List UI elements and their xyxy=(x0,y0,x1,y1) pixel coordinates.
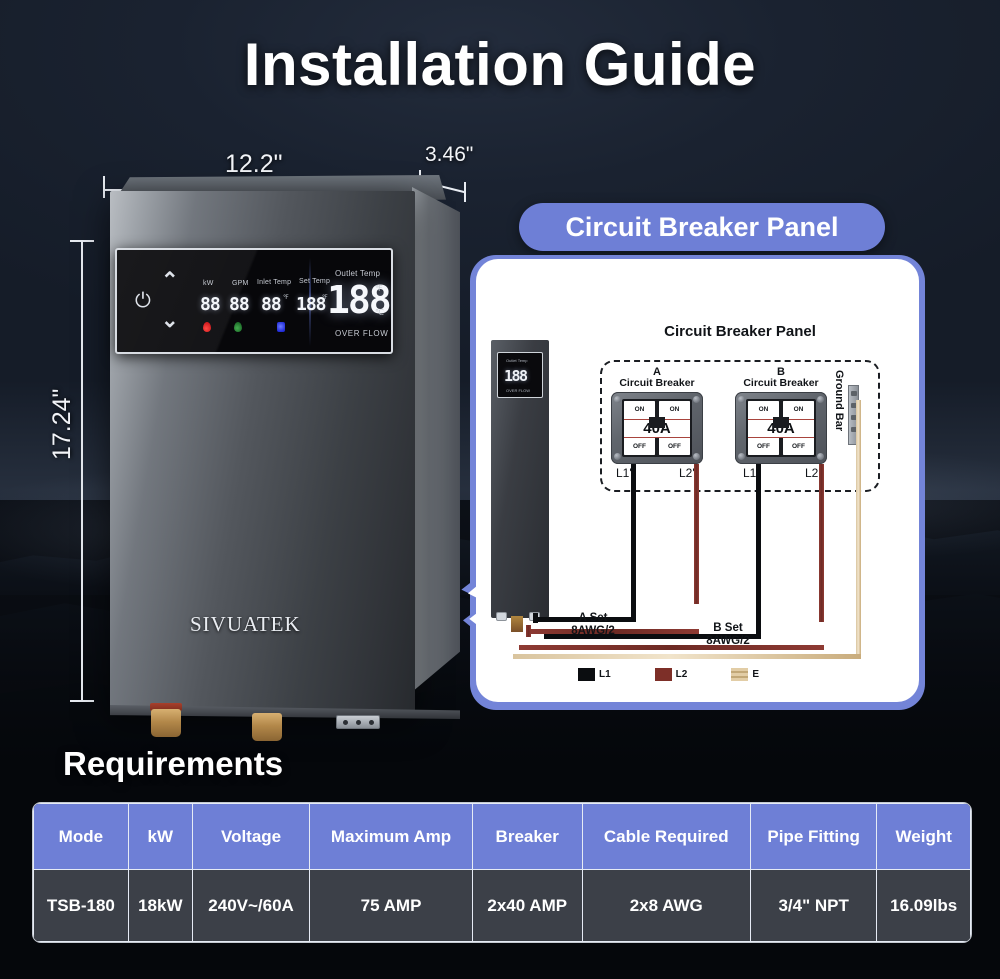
chevron-up-icon[interactable]: ⌃ xyxy=(161,268,179,293)
mini-over-flow-label: OVER FLOW xyxy=(506,388,530,393)
cable-set-a-label: A Set 8AWG/2 xyxy=(553,612,633,638)
breaker-a-tie-bar xyxy=(649,417,665,428)
cable-set-b-spec: 8AWG/2 xyxy=(706,635,749,647)
table-header-row: Mode kW Voltage Maximum Amp Breaker Cabl… xyxy=(34,804,971,870)
gpm-readout: 88 xyxy=(229,294,249,315)
column-header-kw: kW xyxy=(128,804,192,870)
dimension-depth-label: 3.46" xyxy=(425,143,473,167)
over-flow-label: OVER FLOW xyxy=(335,329,388,338)
cell-pipe-fitting: 3/4" NPT xyxy=(750,870,877,942)
breaker-b-screw-tl xyxy=(738,396,745,403)
breaker-a-screw-tl xyxy=(614,396,621,403)
wire-l2-prime xyxy=(694,464,699,604)
pipe-fitting-right xyxy=(252,713,282,741)
wire-l1 xyxy=(756,464,761,639)
column-header-cable-required: Cable Required xyxy=(582,804,750,870)
inlet-temp-unit: ℉ xyxy=(283,294,289,301)
unit-side-face xyxy=(412,187,460,692)
cell-maximum-amp: 75 AMP xyxy=(310,870,473,942)
breaker-a-name-label: Circuit Breaker xyxy=(602,377,712,389)
column-header-pipe-fitting: Pipe Fitting xyxy=(750,804,877,870)
kw-label: kW xyxy=(203,280,214,287)
leaf-indicator-icon xyxy=(234,322,242,332)
water-drop-indicator-icon xyxy=(203,322,211,332)
page-title: Installation Guide xyxy=(0,30,1000,99)
control-panel[interactable]: ⏻ ⌃ ⌄ kW GPM Inlet Temp Set Temp Outlet … xyxy=(115,248,393,354)
breaker-a-terminal-1-label: L1' xyxy=(616,466,632,480)
outlet-temp-label: Outlet Temp xyxy=(335,269,380,278)
mini-control-panel: Outlet Temp 188 OVER FLOW xyxy=(497,352,543,398)
breaker-a[interactable]: ON OFF ON OFF 40A xyxy=(611,392,703,464)
outlet-temp-unit-c: ℃ xyxy=(375,308,384,317)
cell-voltage: 240V~/60A xyxy=(192,870,309,942)
cell-breaker: 2x40 AMP xyxy=(472,870,582,942)
wire-ground xyxy=(856,400,861,656)
cell-cable-required: 2x8 AWG xyxy=(582,870,750,942)
pipe-fitting-left xyxy=(151,709,181,737)
wire-l1-prime xyxy=(631,464,636,622)
legend-label-e: E xyxy=(752,669,759,680)
legend-label-l1: L1 xyxy=(599,669,611,680)
flow-indicator-icon xyxy=(277,322,285,332)
cable-set-b-label: B Set 8AWG/2 xyxy=(688,622,768,648)
inlet-temp-label: Inlet Temp xyxy=(257,279,291,286)
badge-label: Circuit Breaker Panel xyxy=(565,212,838,243)
chevron-down-icon[interactable]: ⌄ xyxy=(161,308,179,333)
gpm-label: GPM xyxy=(232,280,249,287)
requirements-table: Mode kW Voltage Maximum Amp Breaker Cabl… xyxy=(33,803,971,942)
ground-bar-label: Ground Bar xyxy=(833,370,845,431)
breaker-a-pole-2-off: OFF xyxy=(659,437,690,455)
wire-legend: L1 L2 E xyxy=(578,666,818,682)
column-header-mode: Mode xyxy=(34,804,129,870)
dimension-height-tick-bottom xyxy=(70,700,94,702)
outlet-temp-unit-f: ℉ xyxy=(375,284,383,293)
wire-l1-prime-riser xyxy=(533,613,538,623)
mini-pipe-fitting xyxy=(511,616,523,632)
cell-mode: TSB-180 xyxy=(34,870,129,942)
breaker-b-terminal-2-label: L2 xyxy=(805,466,818,480)
wire-l2-horizontal xyxy=(519,645,824,650)
breaker-a-screw-tr xyxy=(693,396,700,403)
mini-outlet-temp-readout: 188 xyxy=(504,367,527,385)
breaker-b-name-label: Circuit Breaker xyxy=(726,377,836,389)
breaker-a-terminal-2-label: L2' xyxy=(679,466,695,480)
breaker-b[interactable]: ON OFF ON OFF 40A xyxy=(735,392,827,464)
dimension-height-line xyxy=(81,240,83,702)
junction-screw-left xyxy=(343,720,348,725)
breaker-b-terminal-1-label: L1 xyxy=(743,466,756,480)
breaker-b-pole-1-off: OFF xyxy=(748,437,779,455)
breaker-b-screw-bl xyxy=(738,453,745,460)
mini-outlet-temp-label: Outlet Temp xyxy=(506,358,528,363)
breaker-b-tie-bar xyxy=(773,417,789,428)
junction-box xyxy=(336,715,380,729)
cable-set-a-spec: 8AWG/2 xyxy=(571,625,614,637)
wire-ground-horizontal xyxy=(513,654,861,659)
legend-swatch-l1 xyxy=(578,668,595,681)
dimension-depth-tick-right xyxy=(464,182,466,202)
column-header-voltage: Voltage xyxy=(192,804,309,870)
column-header-breaker: Breaker xyxy=(472,804,582,870)
table-row: TSB-180 18kW 240V~/60A 75 AMP 2x40 AMP 2… xyxy=(34,870,971,942)
column-header-weight: Weight xyxy=(877,804,971,870)
breaker-b-screw-tr xyxy=(817,396,824,403)
legend-item-l1: L1 xyxy=(578,668,611,681)
legend-label-l2: L2 xyxy=(676,669,688,680)
diagram-title: Circuit Breaker Panel xyxy=(600,323,880,340)
junction-screw-right xyxy=(369,720,374,725)
breaker-a-pole-1-off: OFF xyxy=(624,437,655,455)
legend-swatch-e xyxy=(731,668,748,681)
power-icon[interactable]: ⏻ xyxy=(135,290,151,313)
requirements-title: Requirements xyxy=(63,745,283,783)
cell-weight: 16.09lbs xyxy=(877,870,971,942)
junction-screw-mid xyxy=(356,720,361,725)
legend-item-l2: L2 xyxy=(655,668,688,681)
column-header-maximum-amp: Maximum Amp xyxy=(310,804,473,870)
ground-bar-screw-1 xyxy=(851,391,857,396)
cell-kw: 18kW xyxy=(128,870,192,942)
dimension-height-label: 17.24" xyxy=(48,389,77,460)
legend-item-e: E xyxy=(731,668,759,681)
circuit-breaker-panel-badge: Circuit Breaker Panel xyxy=(519,203,885,251)
breaker-b-pole-2-off: OFF xyxy=(783,437,814,455)
kw-readout: 88 xyxy=(200,294,220,315)
inlet-temp-readout: 88 xyxy=(261,294,281,315)
cable-set-b-name: B Set xyxy=(713,622,742,634)
brand-logo: SIVUATEK xyxy=(190,612,301,637)
dimension-height-tick-top xyxy=(70,240,94,242)
breaker-a-screw-bl xyxy=(614,453,621,460)
cable-set-a-name: A Set xyxy=(579,612,608,624)
breaker-b-screw-br xyxy=(817,453,824,460)
breaker-a-screw-br xyxy=(693,453,700,460)
wire-l2-prime-riser xyxy=(526,625,531,637)
legend-swatch-l2 xyxy=(655,668,672,681)
mini-unit-screw-left xyxy=(496,612,507,621)
wire-l2 xyxy=(819,464,824,622)
set-temp-label: Set Temp xyxy=(299,278,330,285)
